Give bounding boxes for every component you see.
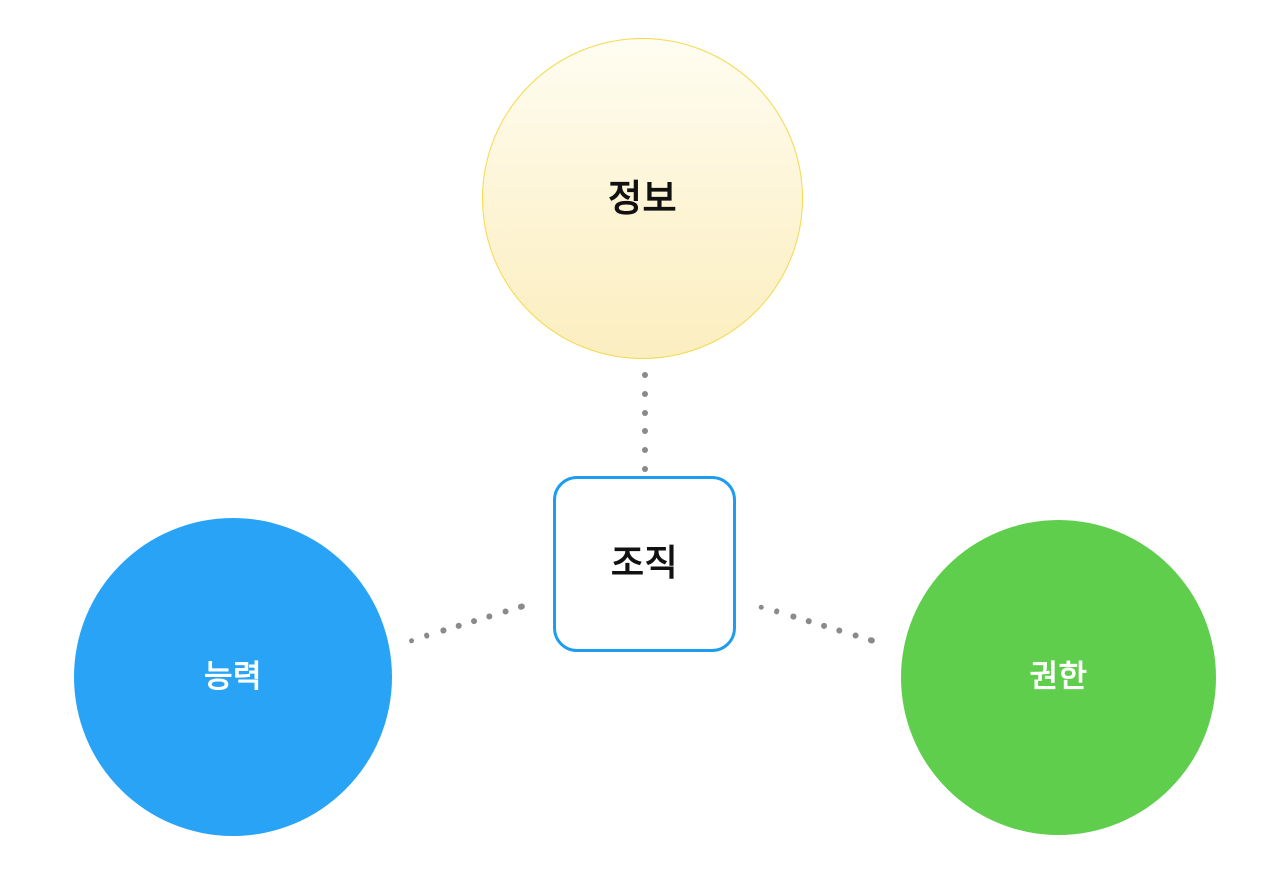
connector-dot	[642, 428, 648, 434]
connector-dot	[774, 608, 780, 614]
connector-dot	[642, 466, 648, 472]
connector-org-to-capability	[408, 603, 525, 644]
connector-dot	[820, 622, 827, 629]
node-organization-label: 조직	[611, 546, 678, 582]
connector-dot	[642, 447, 648, 453]
connector-dot	[836, 627, 844, 635]
connector-dot	[642, 372, 648, 378]
connector-dot	[867, 636, 875, 644]
connector-dot	[486, 613, 494, 621]
connector-dot	[455, 622, 462, 629]
node-authority-label: 권한	[1029, 662, 1087, 693]
connector-dot	[642, 410, 648, 416]
connector-dot	[502, 607, 510, 615]
node-authority[interactable]: 권한	[901, 520, 1216, 835]
node-capability-label: 능력	[204, 662, 262, 693]
node-info[interactable]: 정보	[482, 38, 803, 359]
connector-dot	[440, 627, 447, 634]
connector-dot	[408, 637, 414, 643]
diagram-canvas: 정보 조직 능력 권한	[0, 0, 1280, 893]
connector-dot	[805, 618, 812, 625]
connector-dot	[517, 603, 525, 611]
node-capability[interactable]: 능력	[74, 518, 392, 836]
connector-dot	[758, 604, 764, 610]
connector-org-to-authority	[758, 603, 875, 644]
connector-dot	[470, 617, 477, 624]
connector-dot	[424, 632, 430, 638]
node-organization[interactable]: 조직	[553, 476, 736, 652]
connector-dot	[790, 613, 797, 620]
node-info-label: 정보	[608, 180, 677, 217]
connector-dot	[852, 632, 860, 640]
connector-info-to-org	[642, 372, 648, 472]
connector-dot	[642, 391, 648, 397]
